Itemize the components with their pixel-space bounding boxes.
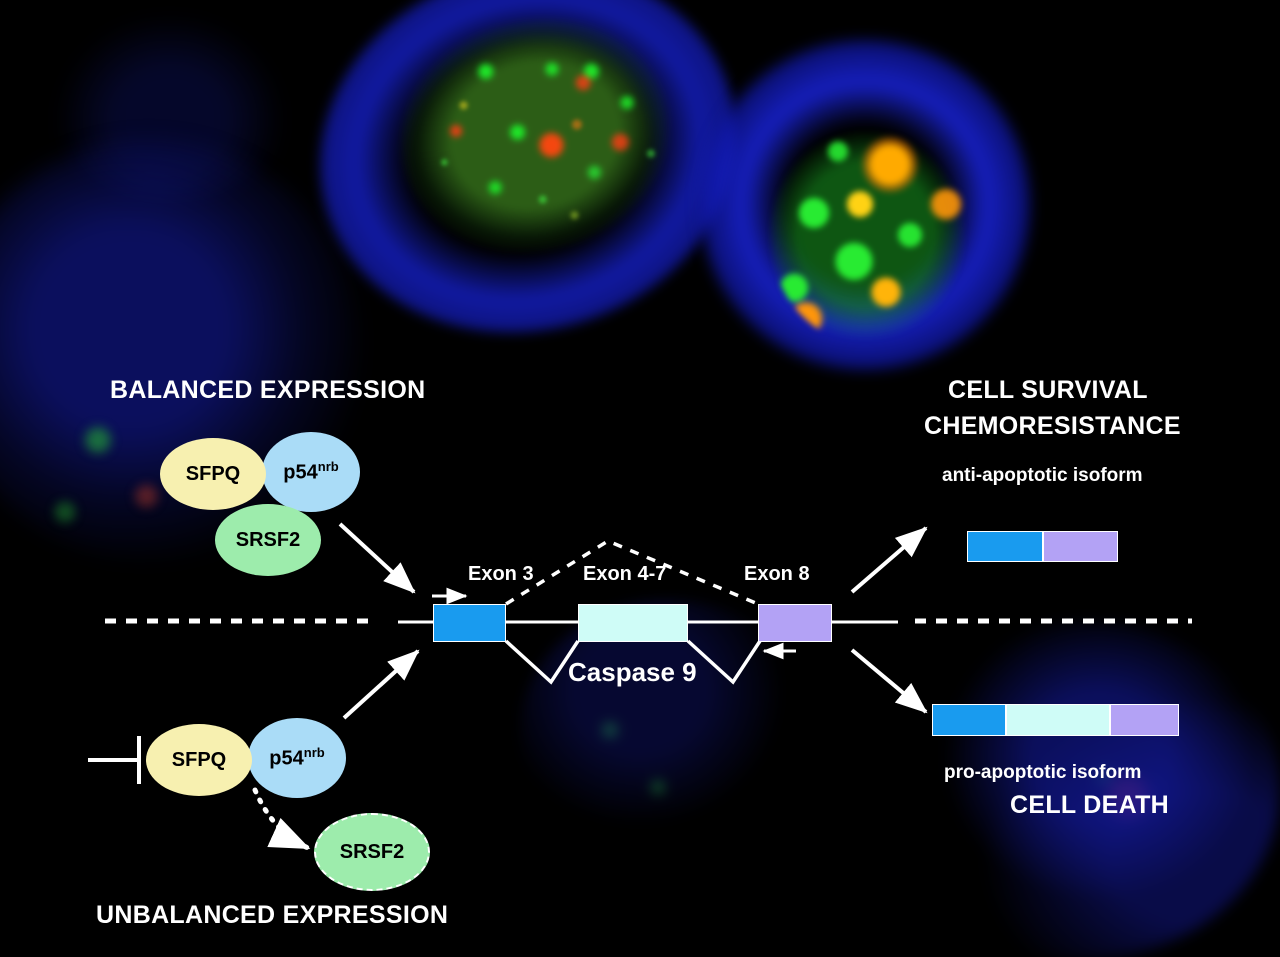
protein-label-p54nrb-balanced: p54 [283,462,317,484]
isoform-segment-anti-exon8[interactable] [1043,531,1118,562]
caption-anti-apoptotic-isoform: anti-apoptotic isoform [942,466,1143,485]
protein-node-srsf2-unbalanced[interactable]: SRSF2 [314,813,430,891]
gene-name-caspase9: Caspase 9 [568,659,697,685]
protein-node-p54nrb-balanced[interactable]: p54nrb [262,432,360,512]
splice-path-intron-7 [688,641,760,682]
heading-cell-death: CELL DEATH [1010,793,1169,818]
protein-label-p54nrb-superscript-balanced: nrb [318,459,339,474]
exon-label-exon3: Exon 3 [468,564,534,584]
heading-unbalanced-expression: UNBALANCED EXPRESSION [96,903,448,928]
protein-node-sfpq-unbalanced[interactable]: SFPQ [146,724,252,796]
arrow-unbalanced-to-gene [344,651,418,718]
exon-box-exon4-7[interactable] [578,604,688,642]
isoform-segment-pro-exon4-7[interactable] [1006,704,1110,736]
heading-balanced-expression: BALANCED EXPRESSION [110,378,425,403]
caption-pro-apoptotic-isoform: pro-apoptotic isoform [944,763,1141,782]
protein-label-p54nrb-superscript-unbalanced: nrb [304,745,325,760]
heading-chemoresistance: CHEMORESISTANCE [924,414,1181,439]
arrow-gene-to-pro-apoptotic [852,650,926,712]
exon-box-exon3[interactable] [433,604,506,642]
protein-node-p54nrb-unbalanced[interactable]: p54nrb [248,718,346,798]
figure-canvas: BALANCED EXPRESSION UNBALANCED EXPRESSIO… [0,0,1280,957]
exon-label-exon4-7: Exon 4-7 [583,564,666,584]
exon-box-exon8[interactable] [758,604,832,642]
protein-label-sfpq-unbalanced: SFPQ [172,749,226,772]
protein-node-srsf2-balanced[interactable]: SRSF2 [215,504,321,576]
arrow-srsf2-dissociation [255,790,308,848]
isoform-segment-anti-exon3[interactable] [967,531,1043,562]
arrow-balanced-to-gene [340,524,414,592]
protein-label-sfpq-balanced: SFPQ [186,463,240,486]
protein-label-p54nrb-unbalanced: p54 [269,748,303,770]
heading-cell-survival: CELL SURVIVAL [948,378,1148,403]
isoform-segment-pro-exon3[interactable] [932,704,1006,736]
protein-label-srsf2-unbalanced: SRSF2 [340,841,404,864]
exon-label-exon8: Exon 8 [744,564,810,584]
arrow-gene-to-anti-apoptotic [852,528,926,592]
isoform-segment-pro-exon8[interactable] [1110,704,1179,736]
protein-node-sfpq-balanced[interactable]: SFPQ [160,438,266,510]
protein-label-srsf2-balanced: SRSF2 [236,529,300,552]
